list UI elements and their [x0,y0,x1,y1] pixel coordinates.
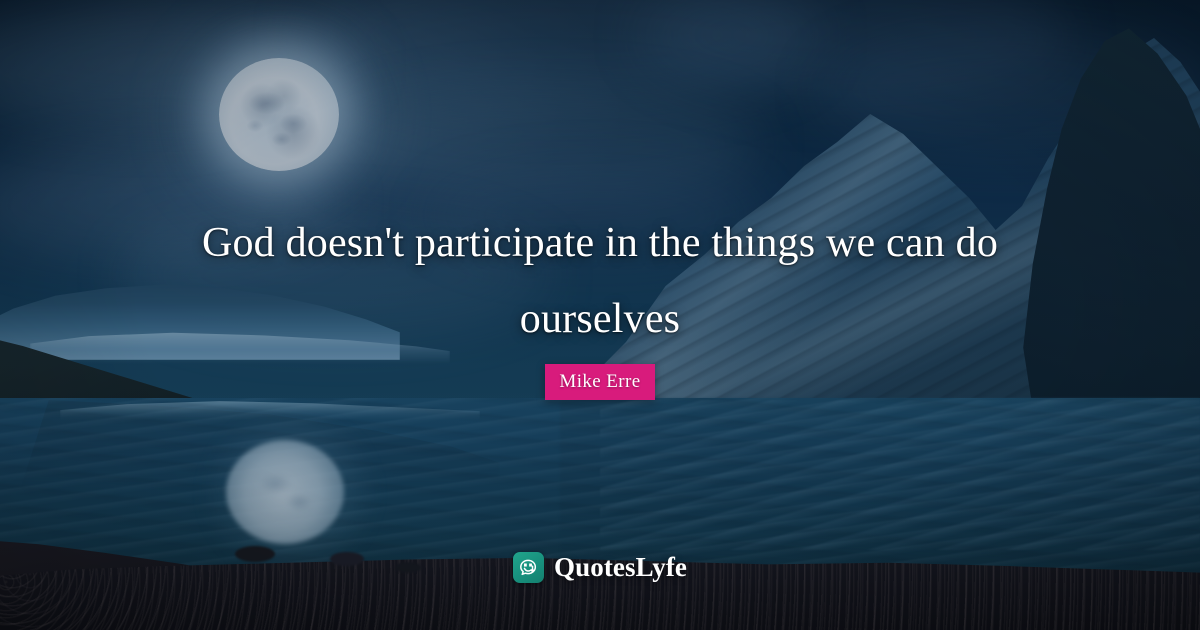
quotes-lyfe-logo-icon [513,552,544,583]
author-row: Mike Erre [0,364,1200,400]
brand-watermark[interactable]: QuotesLyfe [0,552,1200,583]
quote-card: God doesn't participate in the things we… [0,0,1200,630]
quote-text: God doesn't participate in the things we… [160,205,1040,357]
author-badge[interactable]: Mike Erre [545,364,654,400]
brand-name: QuotesLyfe [554,552,687,583]
card-content: God doesn't participate in the things we… [0,0,1200,630]
